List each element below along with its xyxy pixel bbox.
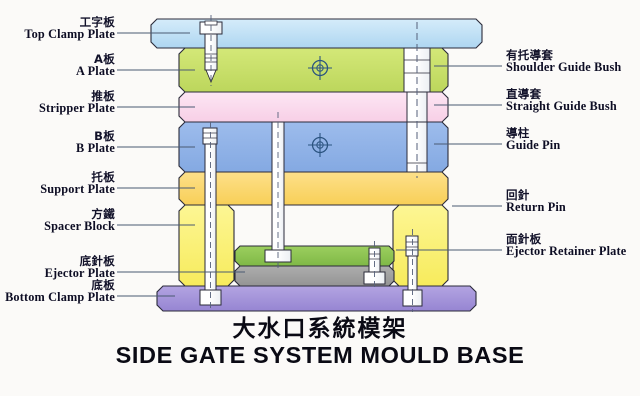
label-en: Return Pin [506, 201, 566, 214]
label-stripper-plate[interactable]: 推板 Stripper Plate [0, 90, 115, 115]
label-en: Top Clamp Plate [0, 28, 115, 41]
figure-title: 大水口系統模架 SIDE GATE SYSTEM MOULD BASE [0, 316, 640, 369]
label-a-plate[interactable]: A板 A Plate [0, 53, 115, 78]
label-shoulder-guide-bush[interactable]: 有托導套 Shoulder Guide Bush [506, 49, 621, 74]
straight-guide-bush [407, 92, 427, 122]
label-en: Support Plate [0, 183, 115, 196]
label-support-plate[interactable]: 托板 Support Plate [0, 171, 115, 196]
title-en: SIDE GATE SYSTEM MOULD BASE [0, 342, 640, 369]
label-return-pin[interactable]: 回針 Return Pin [506, 189, 566, 214]
label-b-plate[interactable]: B板 B Plate [0, 130, 115, 155]
label-en: A Plate [0, 65, 115, 78]
plate-spacer-block [393, 205, 448, 286]
plate-support-plate [179, 172, 448, 205]
diagram-page: 工字板 Top Clamp Plate A板 A Plate 推板 Stripp… [0, 0, 640, 410]
diagram-canvas: 工字板 Top Clamp Plate A板 A Plate 推板 Stripp… [0, 0, 640, 396]
label-top-clamp-plate[interactable]: 工字板 Top Clamp Plate [0, 16, 115, 41]
label-en: Shoulder Guide Bush [506, 61, 621, 74]
label-bottom-clamp-plate[interactable]: 底板 Bottom Clamp Plate [0, 279, 115, 304]
label-ejector-retainer-plate[interactable]: 面針板 Ejector Retainer Plate [506, 233, 626, 258]
label-en: Straight Guide Bush [506, 100, 617, 113]
title-cn: 大水口系統模架 [0, 316, 640, 342]
bottom-margin-strip [0, 396, 640, 410]
label-guide-pin[interactable]: 導柱 Guide Pin [506, 127, 560, 152]
label-spacer-block[interactable]: 方鐵 Spacer Block [0, 208, 115, 233]
label-en: B Plate [0, 142, 115, 155]
label-en: Ejector Retainer Plate [506, 245, 626, 258]
label-en: Stripper Plate [0, 102, 115, 115]
label-en: Spacer Block [0, 220, 115, 233]
label-ejector-plate[interactable]: 底針板 Ejector Plate [0, 255, 115, 280]
label-straight-guide-bush[interactable]: 直導套 Straight Guide Bush [506, 88, 617, 113]
label-en: Guide Pin [506, 139, 560, 152]
label-en: Bottom Clamp Plate [0, 291, 115, 304]
